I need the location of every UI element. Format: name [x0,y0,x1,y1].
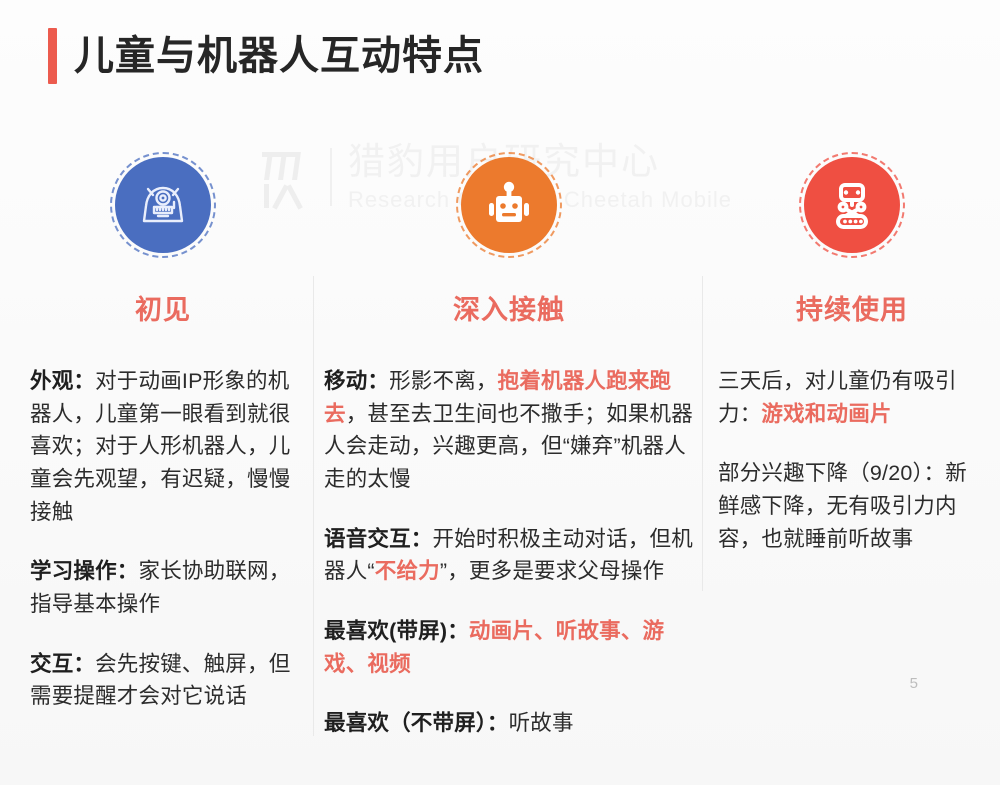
paragraph: 交互：会先按键、触屏，但需要提醒才会对它说话 [30,648,304,713]
stage-label: 初见 [22,288,304,327]
paragraph: 移动：形影不离，抱着机器人跑来跑去，甚至去卫生间也不撒手；如果机器人会走动，兴趣… [324,365,694,496]
paragraph-lead: 外观： [30,369,95,393]
paragraph: 最喜欢（不带屏）：听故事 [324,707,694,740]
paragraph-text: 部分兴趣下降（9/20）：新鲜感下降，无有吸引力内容，也就睡前听故事 [718,461,967,550]
paragraph-lead: 交互： [30,652,95,676]
paragraph-highlight: 不给力 [375,559,440,583]
stage-icon-wrap [718,150,986,260]
paragraph: 最喜欢(带屏)：动画片、听故事、游戏、视频 [324,615,694,680]
stage-column-first-encounter: 初见 外观：对于动画IP形象的机器人，儿童第一眼看到就很喜欢；对于人形机器人，儿… [22,150,304,713]
paragraph: 三天后，对儿童仍有吸引力：游戏和动画片 [718,365,986,430]
stage-body: 移动：形影不离，抱着机器人跑来跑去，甚至去卫生间也不撒手；如果机器人会走动，兴趣… [324,365,694,740]
paragraph-highlight: 游戏和动画片 [761,402,891,426]
paragraph: 外观：对于动画IP形象的机器人，儿童第一眼看到就很喜欢；对于人形机器人，儿童会先… [30,365,304,528]
paragraph: 语音交互：开始时积极主动对话，但机器人“不给力”，更多是要求父母操作 [324,523,694,588]
stage-icon-wrap [324,150,694,260]
paragraph-text: ”，更多是要求父母操作 [440,559,664,583]
paragraph-text: 听故事 [509,711,574,735]
stage-body: 三天后，对儿童仍有吸引力：游戏和动画片部分兴趣下降（9/20）：新鲜感下降，无有… [718,365,986,555]
stage-column-deep-contact: 深入接触 移动：形影不离，抱着机器人跑来跑去，甚至去卫生间也不撒手；如果机器人会… [324,150,694,740]
stage-column-continued-use: 持续使用 三天后，对儿童仍有吸引力：游戏和动画片部分兴趣下降（9/20）：新鲜感… [718,150,986,555]
stage-label: 持续使用 [718,288,986,327]
page-number: 5 [910,675,918,692]
stage-icon-wrap [22,150,304,260]
paragraph: 学习操作：家长协助联网，指导基本操作 [30,555,304,620]
stage-body: 外观：对于动画IP形象的机器人，儿童第一眼看到就很喜欢；对于人形机器人，儿童会先… [22,365,304,713]
robot-body-orange-icon [461,157,557,253]
paragraph-lead: 语音交互： [324,527,433,551]
paragraph-lead: 学习操作： [30,559,139,583]
paragraph-text: ，甚至去卫生间也不撒手；如果机器人会走动，兴趣更高，但“嫌弃”机器人走的太慢 [324,402,693,491]
stage-label: 深入接触 [324,288,694,327]
paragraph-lead: 移动： [324,369,389,393]
paragraph-text: 形影不离， [389,369,498,393]
paragraph-lead: 最喜欢(带屏)： [324,619,469,643]
robot-head-blue-icon [115,157,211,253]
paragraph: 部分兴趣下降（9/20）：新鲜感下降，无有吸引力内容，也就睡前听故事 [718,457,986,555]
paragraph-lead: 最喜欢（不带屏）： [324,711,509,735]
robot-outline-red-icon [804,157,900,253]
stage-columns: 初见 外观：对于动画IP形象的机器人，儿童第一眼看到就很喜欢；对于人形机器人，儿… [0,0,1000,785]
slide-root: 儿童与机器人互动特点 猎豹用户研究中心 Research Center of C… [0,0,1000,785]
